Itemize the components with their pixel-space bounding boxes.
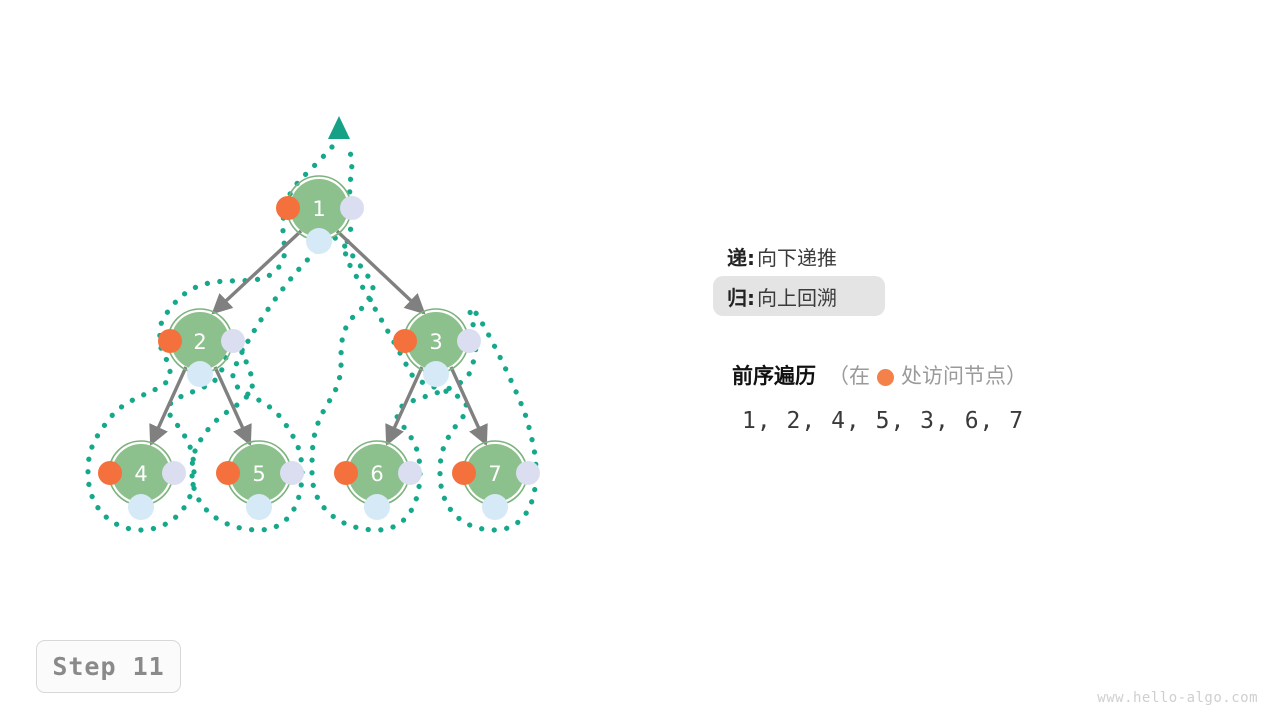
bottom-slot-dot-icon	[423, 361, 449, 387]
right-slot-dot-icon	[398, 461, 422, 485]
legend-desc-ascend: 向上回溯	[757, 282, 837, 311]
edge-3-7	[451, 367, 486, 444]
tree-node-5[interactable]: 5	[216, 441, 304, 520]
step-badge: Step 11	[36, 640, 181, 693]
visit-dot-icon	[158, 329, 182, 353]
legend-tag-descend: 递:	[727, 242, 755, 271]
right-slot-dot-icon	[162, 461, 186, 485]
legend-row-ascend: 归: 向上回溯	[713, 276, 885, 316]
bottom-slot-dot-icon	[306, 228, 332, 254]
node-label: 1	[312, 197, 325, 221]
bottom-slot-dot-icon	[246, 494, 272, 520]
legend-tag-ascend: 归:	[727, 282, 755, 311]
node-label: 6	[370, 462, 383, 486]
traversal-title: 前序遍历 （在 处访问节点）	[732, 360, 1232, 390]
traversal-title-bold: 前序遍历	[732, 360, 816, 390]
right-slot-dot-icon	[457, 329, 481, 353]
legend-row-descend: 递: 向下递推	[727, 236, 1207, 276]
edge-3-6	[387, 367, 422, 444]
node-label: 4	[134, 462, 147, 486]
edge-1-3	[337, 231, 424, 313]
node-label: 5	[252, 462, 265, 486]
edge-2-4	[151, 367, 186, 444]
visit-dot-icon	[452, 461, 476, 485]
tree-node-7[interactable]: 7	[452, 441, 540, 520]
tree-node-6[interactable]: 6	[334, 441, 422, 520]
bottom-slot-dot-icon	[482, 494, 508, 520]
visit-dot-icon	[334, 461, 358, 485]
orange-dot-icon	[877, 369, 894, 386]
visit-dot-icon	[216, 461, 240, 485]
traversal-title-prefix: （在	[828, 360, 870, 390]
traversal-title-suffix: 处访问节点）	[901, 360, 1027, 390]
visit-dot-icon	[98, 461, 122, 485]
diagram-canvas: 1 2 3 4	[0, 0, 1280, 720]
right-slot-dot-icon	[340, 196, 364, 220]
edge-2-5	[215, 367, 250, 444]
node-label: 7	[488, 462, 501, 486]
up-triangle-icon	[328, 116, 350, 139]
tree-node-4[interactable]: 4	[98, 441, 186, 520]
right-slot-dot-icon	[221, 329, 245, 353]
bottom-slot-dot-icon	[128, 494, 154, 520]
visit-dot-icon	[393, 329, 417, 353]
tree-node-3[interactable]: 3	[393, 309, 481, 387]
traversal-block: 前序遍历 （在 处访问节点） 1, 2, 4, 5, 3, 6, 7	[732, 360, 1232, 434]
legend-desc-descend: 向下递推	[757, 242, 837, 271]
bottom-slot-dot-icon	[187, 361, 213, 387]
bottom-slot-dot-icon	[364, 494, 390, 520]
right-slot-dot-icon	[280, 461, 304, 485]
visit-dot-icon	[276, 196, 300, 220]
node-label: 3	[429, 330, 442, 354]
node-label: 2	[193, 330, 206, 354]
watermark: www.hello-algo.com	[1097, 690, 1258, 706]
recursion-legend: 递: 向下递推 归: 向上回溯	[727, 236, 1207, 316]
edge-1-2	[213, 231, 301, 313]
traversal-result: 1, 2, 4, 5, 3, 6, 7	[742, 408, 1232, 434]
right-slot-dot-icon	[516, 461, 540, 485]
